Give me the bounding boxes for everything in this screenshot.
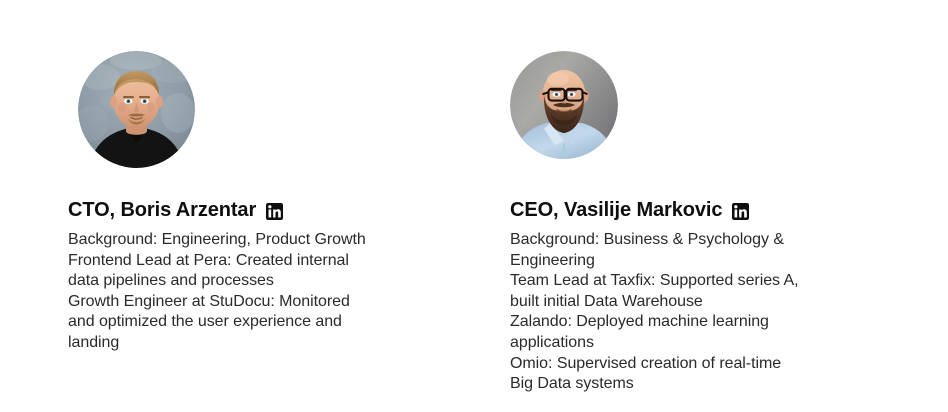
person-name-row: CEO, Vasilije Markovic xyxy=(510,199,910,221)
team-bios-slide: CTO, Boris Arzentar Background: Engineer… xyxy=(0,0,948,412)
bio-line: Engineering xyxy=(510,251,855,272)
page-title: CTO, Boris Arzentar xyxy=(68,199,256,221)
bio-text: Background: Business & Psychology & Engi… xyxy=(510,230,855,395)
bio-card-ceo: CEO, Vasilije Markovic Background: Busin… xyxy=(510,0,910,395)
bio-line: Team Lead at Taxfix: Supported series A, xyxy=(510,271,855,292)
person-name-row: CTO, Boris Arzentar xyxy=(68,199,468,221)
bio-line: Big Data systems xyxy=(510,374,855,395)
bio-line: Omio: Supervised creation of real-time xyxy=(510,354,855,375)
bio-line: built initial Data Warehouse xyxy=(510,292,855,313)
bio-line: applications xyxy=(510,333,855,354)
page-title: CEO, Vasilije Markovic xyxy=(510,199,722,221)
bio-line: Zalando: Deployed machine learning xyxy=(510,312,855,333)
linkedin-icon[interactable] xyxy=(266,203,283,220)
bio-line: Frontend Lead at Pera: Created internal xyxy=(68,251,413,272)
bio-text: Background: Engineering, Product Growth … xyxy=(68,230,413,354)
bio-line: landing xyxy=(68,333,413,354)
linkedin-icon[interactable] xyxy=(732,203,749,220)
bio-line: Growth Engineer at StuDocu: Monitored xyxy=(68,292,413,313)
bio-line: data pipelines and processes xyxy=(68,271,413,292)
bio-line: Background: Business & Psychology & xyxy=(510,230,855,251)
bio-line: Background: Engineering, Product Growth xyxy=(68,230,413,251)
avatar xyxy=(510,51,618,159)
bio-columns: CTO, Boris Arzentar Background: Engineer… xyxy=(0,0,948,412)
bio-card-cto: CTO, Boris Arzentar Background: Engineer… xyxy=(68,0,468,354)
avatar xyxy=(78,51,195,168)
bio-line: and optimized the user experience and xyxy=(68,312,413,333)
